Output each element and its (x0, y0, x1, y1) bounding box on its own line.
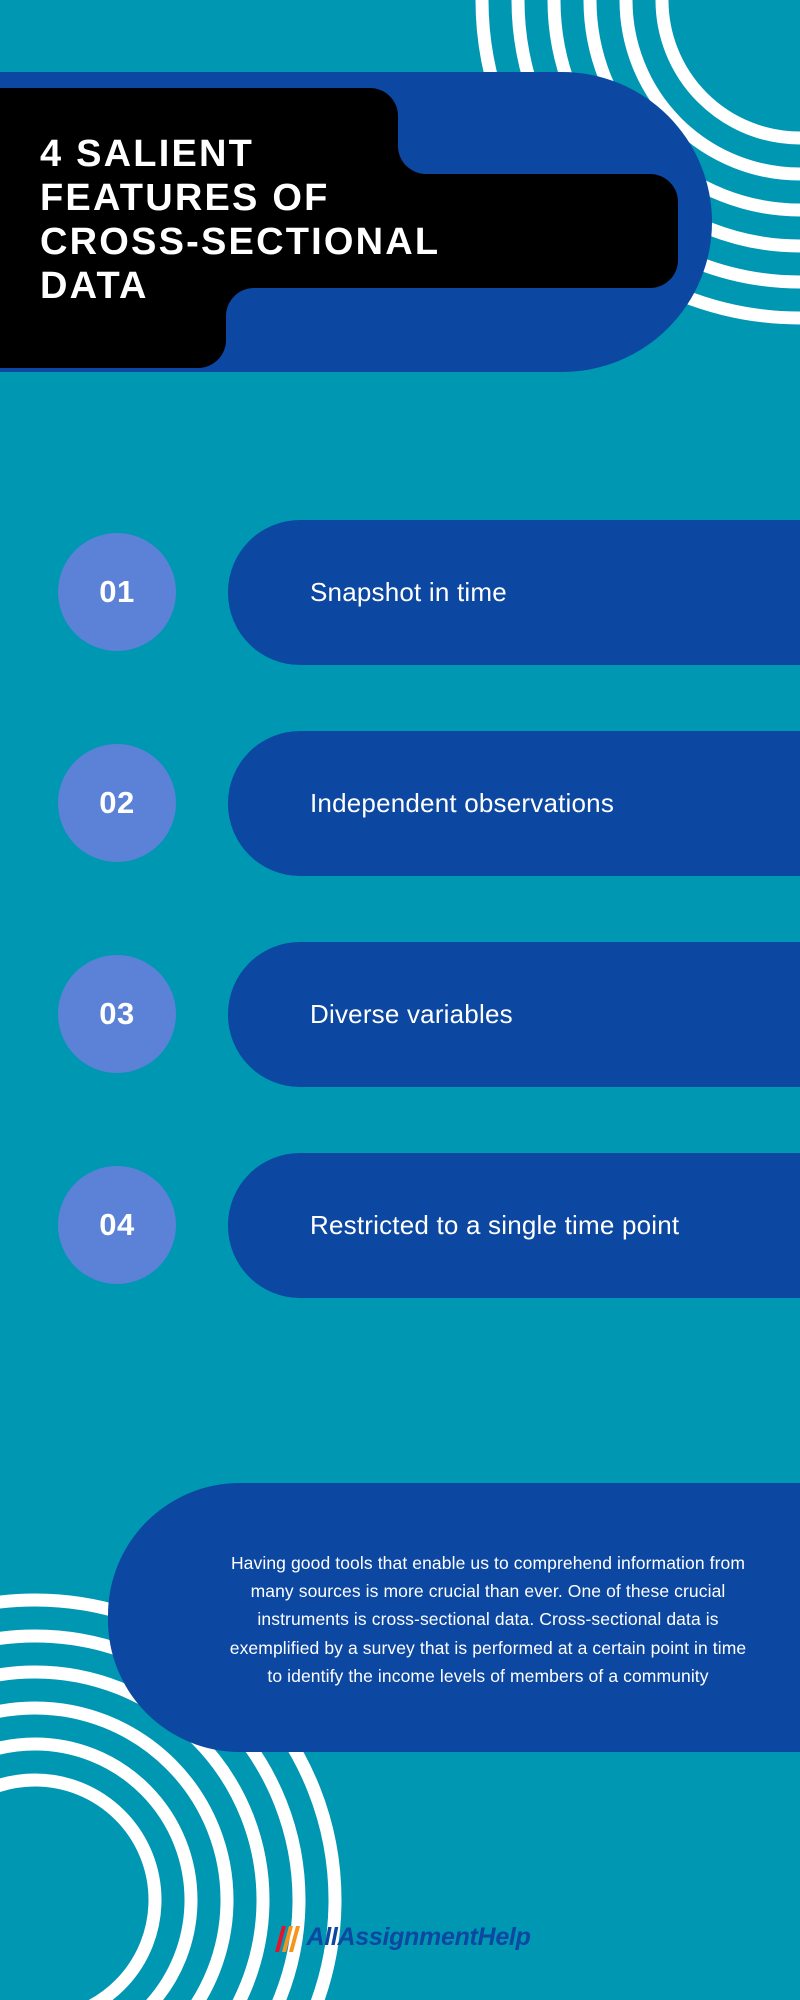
feature-label: Snapshot in time (310, 574, 507, 612)
feature-row[interactable]: Snapshot in time 01 (0, 520, 800, 665)
feature-label: Restricted to a single time point (310, 1207, 679, 1245)
summary-box: Having good tools that enable us to comp… (108, 1483, 800, 1752)
feature-pill[interactable]: Diverse variables (228, 942, 800, 1087)
brand-name: AllAssignmentHelp (306, 1923, 530, 1952)
feature-number: 03 (99, 996, 134, 1032)
brand-logo[interactable]: AllAssignmentHelp (269, 1923, 530, 1952)
page-title: 4 SALIENT FEATURES OF CROSS-SECTIONAL DA… (40, 133, 700, 308)
infographic-canvas: 4 SALIENT FEATURES OF CROSS-SECTIONAL DA… (0, 0, 800, 2000)
feature-row[interactable]: Independent observations 02 (0, 731, 800, 876)
feature-number: 01 (99, 574, 134, 610)
feature-row[interactable]: Diverse variables 03 (0, 942, 800, 1087)
feature-badge: 04 (58, 1166, 176, 1284)
footer: AllAssignmentHelp (0, 1923, 800, 1952)
feature-badge: 01 (58, 533, 176, 651)
feature-badge: 02 (58, 744, 176, 862)
feature-list: Snapshot in time 01 Independent observat… (0, 520, 800, 1364)
feature-number: 04 (99, 1207, 134, 1243)
feature-pill[interactable]: Snapshot in time (228, 520, 800, 665)
feature-number: 02 (99, 785, 134, 821)
feature-row[interactable]: Restricted to a single time point 04 (0, 1153, 800, 1298)
feature-pill[interactable]: Independent observations (228, 731, 800, 876)
feature-badge: 03 (58, 955, 176, 1073)
feature-label: Independent observations (310, 785, 614, 823)
feature-label: Diverse variables (310, 996, 513, 1034)
slash-mark-icon (269, 1924, 303, 1952)
feature-pill[interactable]: Restricted to a single time point (228, 1153, 800, 1298)
summary-text: Having good tools that enable us to comp… (223, 1549, 753, 1691)
